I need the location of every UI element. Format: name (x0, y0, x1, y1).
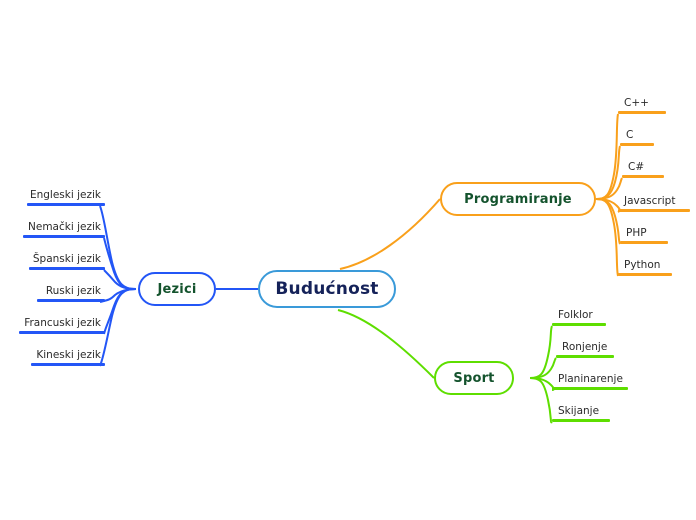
connector-jezici-1 (100, 206, 136, 289)
node-root-label: Budućnost (275, 279, 378, 299)
leaf-sport-1-bar (552, 323, 606, 326)
node-branch-programiranje[interactable]: Programiranje (440, 182, 596, 216)
leaf-jezici-3[interactable]: Španski jezik (29, 250, 105, 270)
leaf-sport-4-bar (552, 419, 610, 422)
node-branch-programiranje-label: Programiranje (464, 192, 572, 207)
leaf-jezici-6-label: Kineski jezik (36, 349, 101, 361)
mindmap-canvas: Budućnost Jezici Programiranje Sport Eng… (0, 0, 696, 520)
leaf-programiranje-2-label: C (626, 129, 633, 141)
leaf-sport-4-label: Skijanje (558, 405, 599, 417)
leaf-jezici-4[interactable]: Ruski jezik (37, 282, 105, 302)
leaf-programiranje-6[interactable]: Python (618, 256, 672, 276)
connector-jezici-2 (104, 238, 136, 289)
node-branch-sport[interactable]: Sport (434, 361, 514, 395)
leaf-jezici-5-label: Francuski jezik (24, 317, 101, 329)
leaf-programiranje-4[interactable]: Javascript (618, 192, 690, 212)
node-branch-jezici[interactable]: Jezici (138, 272, 216, 306)
leaf-jezici-3-bar (29, 267, 105, 270)
leaf-sport-4[interactable]: Skijanje (552, 402, 610, 422)
leaf-programiranje-2-bar (620, 143, 654, 146)
leaf-programiranje-6-label: Python (624, 259, 660, 271)
leaf-programiranje-1[interactable]: C++ (618, 94, 666, 114)
leaf-sport-2[interactable]: Ronjenje (556, 338, 614, 358)
leaf-programiranje-3-label: C# (628, 161, 644, 173)
leaf-jezici-2-label: Nemački jezik (28, 221, 101, 233)
leaf-sport-2-label: Ronjenje (562, 341, 607, 353)
leaf-sport-1[interactable]: Folklor (552, 306, 606, 326)
connector-prog-4 (596, 199, 620, 212)
connector-prog-1 (596, 114, 618, 199)
leaf-jezici-4-bar (37, 299, 105, 302)
leaf-jezici-5[interactable]: Francuski jezik (19, 314, 105, 334)
leaf-jezici-3-label: Španski jezik (33, 253, 101, 265)
node-branch-sport-label: Sport (453, 371, 494, 386)
leaf-jezici-1-bar (27, 203, 105, 206)
leaf-jezici-5-bar (19, 331, 105, 334)
leaf-programiranje-3[interactable]: C# (622, 158, 664, 178)
connector-root-programiranje (340, 199, 440, 269)
leaf-jezici-1[interactable]: Engleski jezik (27, 186, 105, 206)
leaf-programiranje-1-bar (618, 111, 666, 114)
leaf-programiranje-4-bar (618, 209, 690, 212)
node-branch-jezici-label: Jezici (157, 282, 196, 297)
connector-sport-3 (530, 378, 554, 390)
connector-prog-5 (596, 199, 620, 244)
connector-prog-2 (596, 146, 620, 199)
leaf-jezici-6[interactable]: Kineski jezik (31, 346, 105, 366)
connector-jezici-3 (104, 270, 136, 289)
leaf-programiranje-4-label: Javascript (624, 195, 675, 207)
leaf-sport-3-label: Planinarenje (558, 373, 623, 385)
leaf-programiranje-5[interactable]: PHP (620, 224, 668, 244)
leaf-programiranje-1-label: C++ (624, 97, 649, 109)
connector-root-sport (338, 310, 434, 378)
connector-sport-1 (530, 326, 552, 378)
leaf-jezici-2[interactable]: Nemački jezik (23, 218, 105, 238)
leaf-programiranje-5-label: PHP (626, 227, 647, 239)
leaf-programiranje-2[interactable]: C (620, 126, 654, 146)
connector-prog-6 (596, 199, 618, 276)
leaf-jezici-4-label: Ruski jezik (46, 285, 101, 297)
leaf-jezici-2-bar (23, 235, 105, 238)
connector-sport-4 (530, 378, 552, 422)
leaf-jezici-1-label: Engleski jezik (30, 189, 101, 201)
leaf-sport-3-bar (552, 387, 628, 390)
leaf-sport-1-label: Folklor (558, 309, 593, 321)
connector-jezici-4 (100, 289, 136, 302)
leaf-sport-3[interactable]: Planinarenje (552, 370, 628, 390)
leaf-programiranje-6-bar (618, 273, 672, 276)
leaf-sport-2-bar (556, 355, 614, 358)
leaf-jezici-6-bar (31, 363, 105, 366)
leaf-programiranje-5-bar (620, 241, 668, 244)
connector-jezici-5 (104, 289, 136, 334)
connector-jezici-6 (100, 289, 136, 366)
node-root[interactable]: Budućnost (258, 270, 396, 308)
leaf-programiranje-3-bar (622, 175, 664, 178)
